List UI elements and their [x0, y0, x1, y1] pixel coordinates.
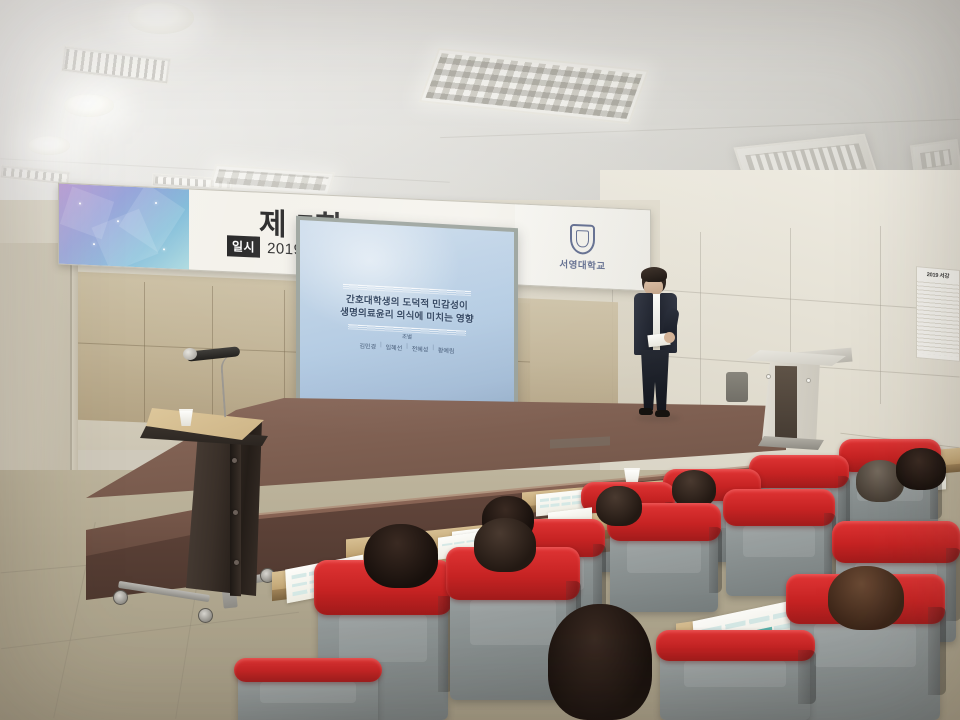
author-separator: | — [380, 342, 382, 351]
mobile-podium-body — [186, 420, 262, 596]
author-name: 김민경 — [360, 341, 377, 351]
author-name: 전혜성 — [412, 344, 429, 354]
presenter — [624, 268, 682, 424]
presenter-trousers — [641, 350, 669, 410]
poster-table — [917, 279, 959, 357]
author-separator: | — [432, 345, 434, 354]
slide-content: 간호대학생의 도덕적 민감성이 생명의료윤리 의식에 미치는 영향 조별 김민경… — [300, 282, 514, 359]
presenter-hand — [664, 332, 675, 343]
wall-av-box — [726, 372, 748, 402]
projection-screen-frame: 간호대학생의 도덕적 민감성이 생명의료윤리 의식에 미치는 영향 조별 김민경… — [296, 216, 518, 417]
auditorium-seat[interactable] — [238, 668, 378, 720]
wood-seam — [144, 282, 145, 422]
presenter-shoe-right — [655, 410, 670, 417]
lectern-knob-icon[interactable] — [806, 378, 811, 383]
university-name: 서영대학교 — [559, 256, 605, 272]
presenter-hair — [641, 267, 667, 282]
fixed-lectern-panel — [775, 366, 797, 439]
schedule-poster: 2019 서강 — [916, 266, 960, 362]
auditorium-seat[interactable] — [660, 642, 810, 720]
lecture-hall-photo: 2019 서강 제 7회 일시 2019년 09월 27일( — [0, 0, 960, 720]
lectern-knob-icon[interactable] — [766, 374, 771, 379]
wood-wall-panel — [512, 298, 618, 414]
author-separator: | — [406, 344, 408, 353]
banner-date-tag: 일시 — [227, 235, 260, 258]
author-name: 황예림 — [438, 345, 455, 355]
wall-seam — [880, 226, 881, 404]
podium-bolt — [234, 560, 239, 565]
podium-caster — [198, 608, 213, 623]
projection-screen: 간호대학생의 도덕적 민감성이 생명의료윤리 의식에 미치는 영향 조별 김민경… — [300, 220, 514, 413]
podium-caster — [113, 590, 128, 605]
slide-title: 간호대학생의 도덕적 민감성이 생명의료윤리 의식에 미치는 영향 — [300, 291, 514, 329]
podium-bolt — [233, 510, 238, 515]
podium-bolt — [232, 458, 237, 463]
auditorium-seat[interactable] — [610, 518, 718, 612]
university-emblem-icon — [570, 223, 595, 254]
presenter-shoe-left — [639, 408, 653, 415]
author-name: 임혜선 — [386, 342, 403, 352]
banner-artwork — [59, 184, 189, 270]
